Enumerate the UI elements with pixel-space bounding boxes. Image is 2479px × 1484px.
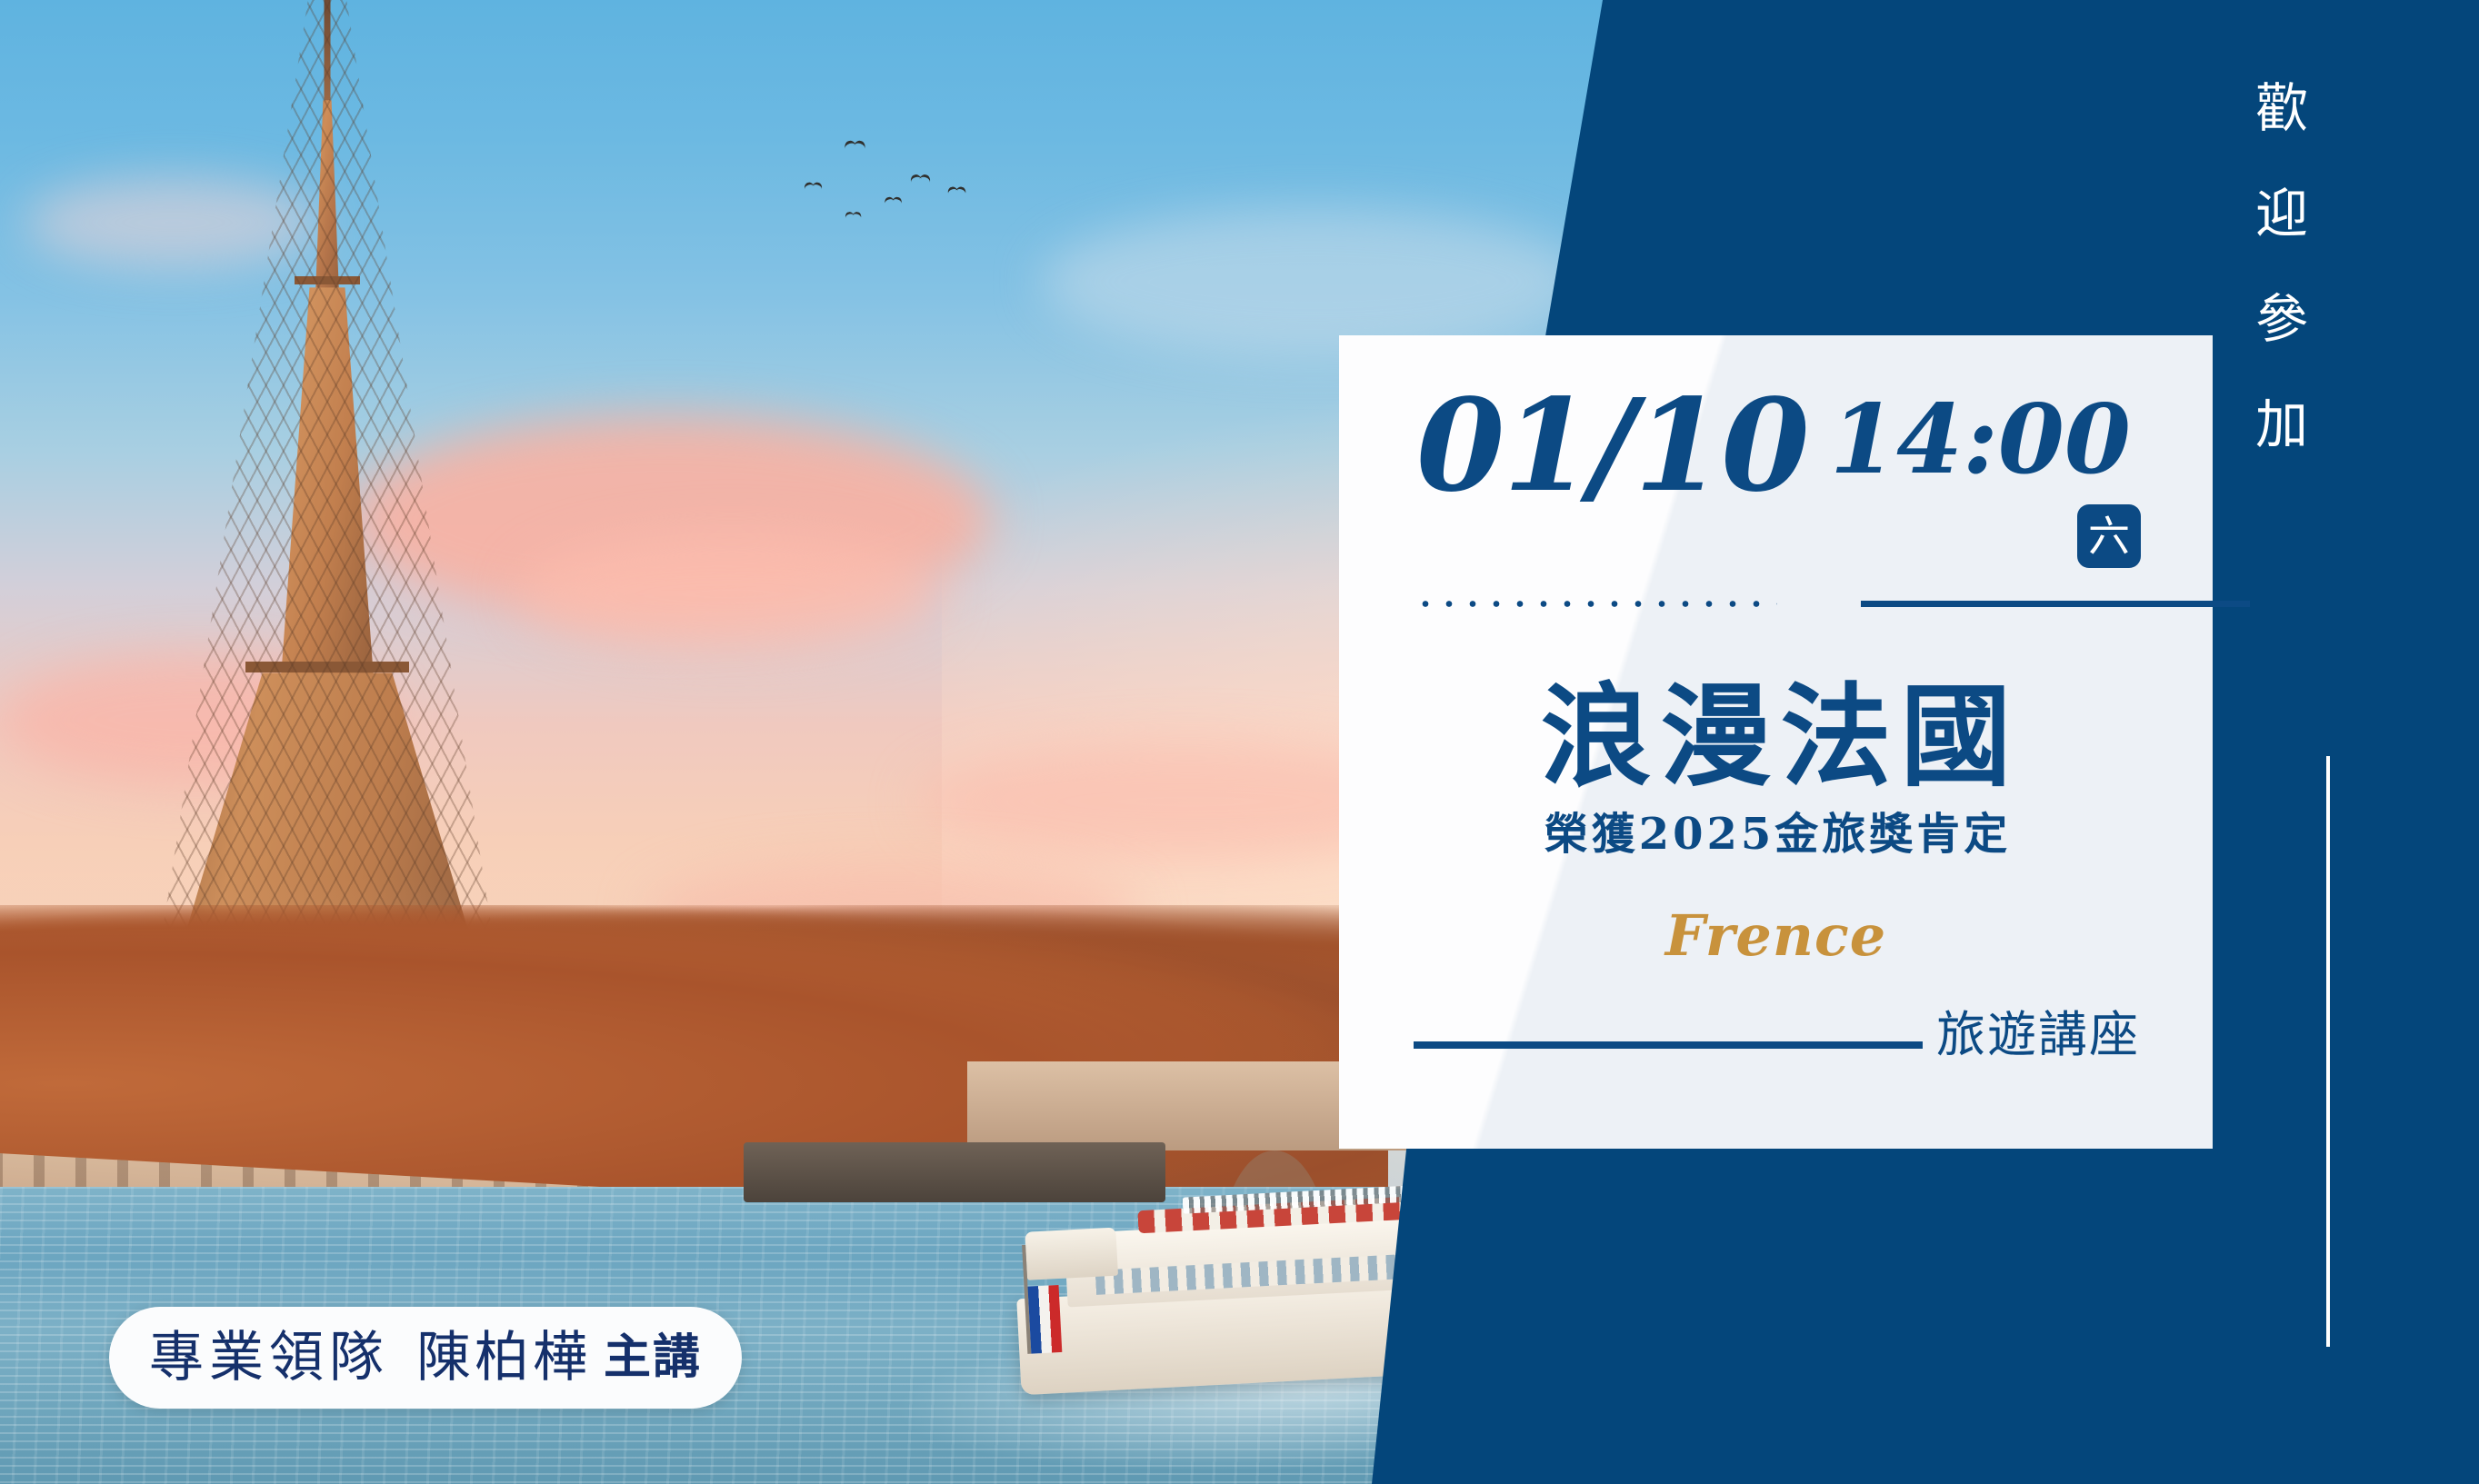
welcome-char-1: 歡 [2255,82,2308,134]
event-date: 01/10 [1416,383,1808,510]
poster-root: 歡 迎 參 加 01/10 14:00 六 浪漫法國 榮獲2025金旅獎肯定 F… [0,0,2479,1484]
footer-rule [1414,1041,1923,1049]
cloud [1041,208,1586,356]
speaker-role: 專業領隊 [149,1330,389,1385]
bird-icon [885,197,902,207]
bird-icon [845,212,862,221]
welcome-char-4: 加 [2255,398,2308,451]
bird-icon [911,174,931,185]
autumn-trees [0,905,1388,1202]
solid-divider [1861,601,2250,607]
boat-wheelhouse [1025,1227,1118,1280]
event-award-subline: 榮獲2025金旅獎肯定 [1339,812,2213,856]
welcome-char-2: 迎 [2255,187,2308,240]
weekday-badge: 六 [2077,504,2141,568]
speaker-pill: 專業領隊 陳柏樺 主講 [109,1307,742,1409]
event-headline: 浪漫法國 [1339,681,2213,792]
speaker-name: 陳柏樺 [416,1330,591,1385]
seminar-label: 旅遊講座 [1936,1011,2140,1060]
event-info-card: 01/10 14:00 六 浪漫法國 榮獲2025金旅獎肯定 Frence 旅遊… [1339,335,2213,1149]
welcome-vertical-text: 歡 迎 參 加 [2218,82,2345,451]
bird-icon [948,186,966,196]
speaker-verb: 主講 [604,1334,702,1381]
moored-barge [917,1142,1165,1201]
welcome-char-3: 參 [2255,293,2308,345]
divider-row [1414,599,2175,608]
event-time: 14:00 [1830,392,2131,487]
cloud [521,534,943,653]
french-flag-icon [1027,1285,1062,1354]
event-latin-title: Frence [1339,908,2213,964]
sidebar-vertical-rule [2326,756,2330,1347]
bird-icon [805,183,823,193]
dotted-divider [1414,601,1777,607]
bird-icon [845,141,865,153]
card-footer: 旅遊講座 [1339,1025,2213,1065]
